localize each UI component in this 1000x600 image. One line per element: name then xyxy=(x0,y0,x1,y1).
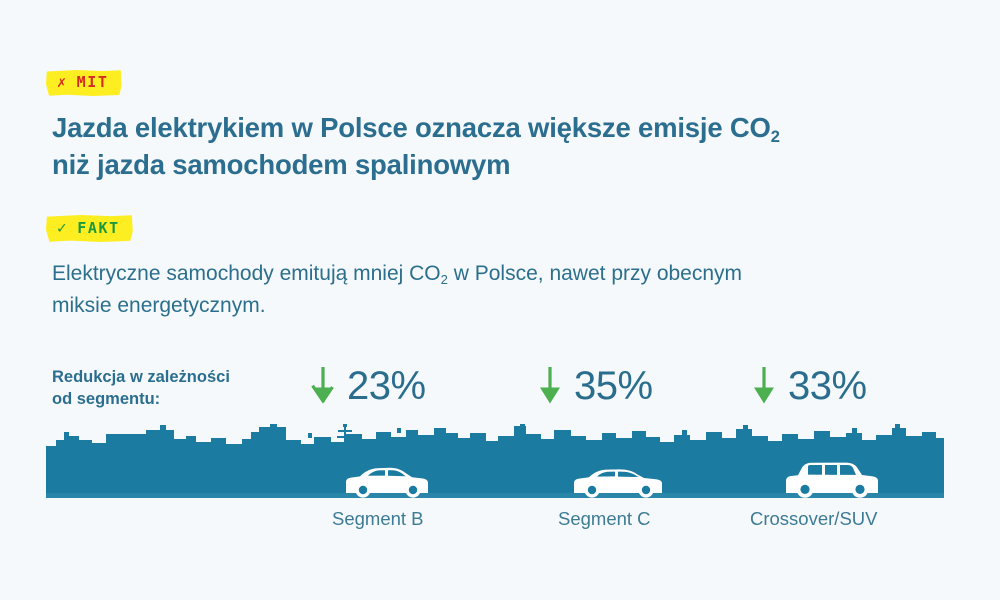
fact-co2-subscript: 2 xyxy=(441,272,448,287)
headline-text-after: niż jazda samochodem spalinowym xyxy=(52,149,510,180)
city-skyline-illustration xyxy=(46,424,944,498)
stats-label-line2: od segmentu: xyxy=(52,390,160,408)
stats-label-line1: Redukcja w zależności xyxy=(52,368,230,386)
fact-badge: ✓ FAKT xyxy=(46,215,133,242)
headline-text-before: Jazda elektrykiem w Polsce oznacza więks… xyxy=(52,112,771,143)
stat-value: 35% xyxy=(574,366,653,406)
segment-label-suv: Crossover/SUV xyxy=(750,508,877,530)
skyline-svg xyxy=(46,424,944,498)
stat-value: 33% xyxy=(788,366,867,406)
check-mark-icon: ✓ xyxy=(57,220,68,236)
myth-badge: ✗ MIT xyxy=(46,70,122,96)
fact-text: Elektryczne samochody emitują mniej CO2 … xyxy=(52,258,752,321)
fact-badge-label: FAKT xyxy=(77,221,120,236)
headline-co2-subscript: 2 xyxy=(771,128,780,146)
segment-label-c: Segment C xyxy=(558,508,651,530)
stat-value: 23% xyxy=(347,366,426,406)
stat-segment-b: 23% xyxy=(311,360,426,412)
segment-label-b: Segment B xyxy=(332,508,424,530)
myth-headline: Jazda elektrykiem w Polsce oznacza więks… xyxy=(52,110,812,183)
arrow-down-icon xyxy=(538,367,562,405)
stat-segment-c: 35% xyxy=(538,360,653,412)
stats-label: Redukcja w zależnościod segmentu: xyxy=(52,366,292,411)
arrow-down-icon xyxy=(752,367,776,405)
infographic-root: ✗ MIT Jazda elektrykiem w Polsce oznacza… xyxy=(0,0,1000,600)
arrow-down-icon xyxy=(311,367,335,405)
stat-crossover-suv: 33% xyxy=(752,360,867,412)
fact-text-before: Elektryczne samochody emitują mniej CO xyxy=(52,262,441,285)
cross-mark-icon: ✗ xyxy=(57,75,68,90)
myth-badge-label: MIT xyxy=(77,75,109,90)
